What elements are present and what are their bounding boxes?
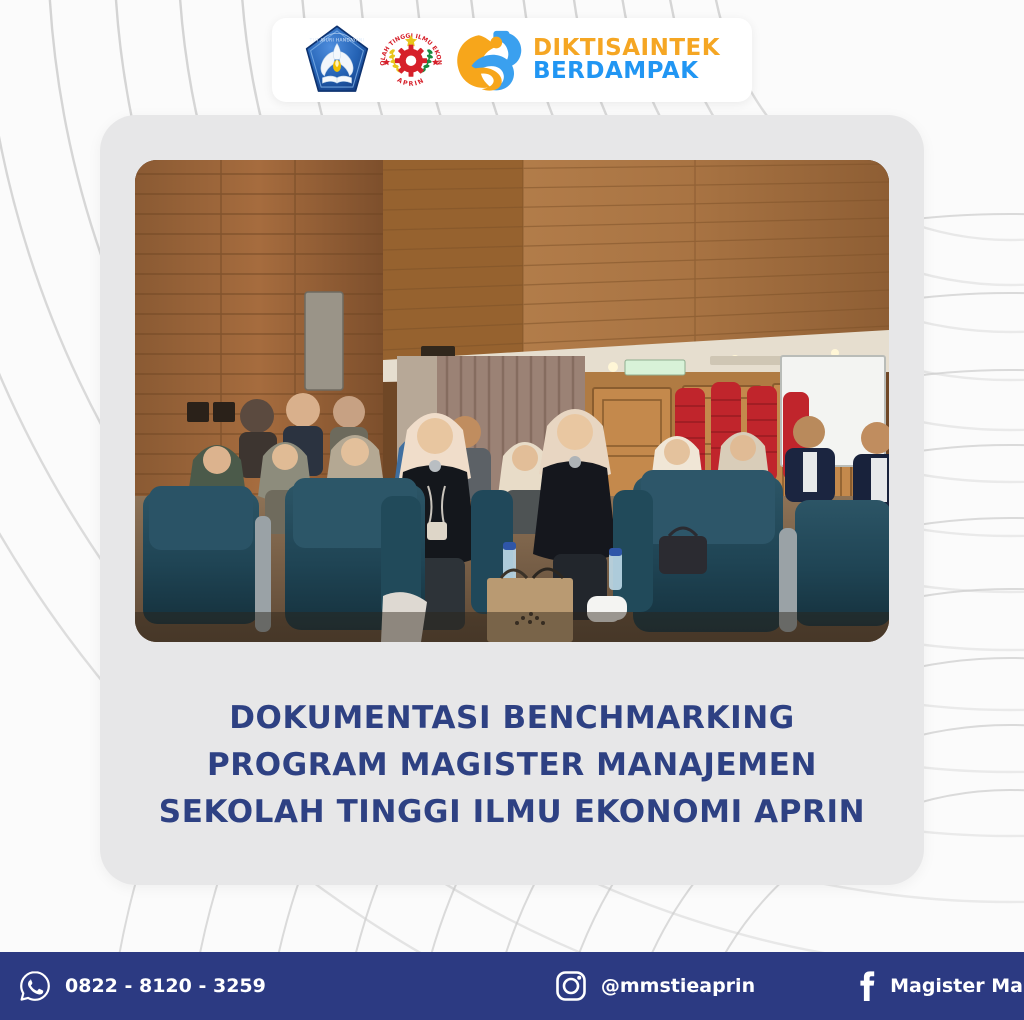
contact-footer: 0822 - 8120 - 3259 @mmstieaprin Magister… bbox=[0, 952, 1024, 1020]
berdampak-text: BERDAMPAK bbox=[533, 60, 720, 83]
title-line-1: DOKUMENTASI BENCHMARKING bbox=[100, 695, 924, 742]
benchmarking-group-photo bbox=[135, 160, 889, 642]
logo-strip: TUT WURI HANDAYANI SEKOLAH TINGGI ILMU E… bbox=[272, 18, 752, 102]
stie-aprin-logo: SEKOLAH TINGGI ILMU EKONOMI APRIN bbox=[376, 25, 446, 95]
poster-title: DOKUMENTASI BENCHMARKING PROGRAM MAGISTE… bbox=[100, 695, 924, 836]
instagram-contact[interactable]: @mmstieaprin bbox=[554, 969, 755, 1003]
title-line-2: PROGRAM MAGISTER MANAJEMEN bbox=[100, 742, 924, 789]
diktisaintek-figure-icon bbox=[452, 25, 526, 95]
diktisaintek-berdampak-logo: DIKTISAINTEK BERDAMPAK bbox=[452, 25, 720, 95]
facebook-icon bbox=[855, 969, 877, 1003]
whatsapp-icon bbox=[18, 969, 52, 1003]
whatsapp-number: 0822 - 8120 - 3259 bbox=[65, 975, 266, 997]
diktisaintek-text: DIKTISAINTEK bbox=[533, 37, 720, 60]
content-card: DOKUMENTASI BENCHMARKING PROGRAM MAGISTE… bbox=[100, 115, 924, 885]
svg-text:TUT WURI HANDAYANI: TUT WURI HANDAYANI bbox=[309, 38, 365, 44]
facebook-page-name: Magister Manajemen STIE APRIN bbox=[890, 975, 1024, 997]
tut-wuri-handayani-logo: TUT WURI HANDAYANI bbox=[304, 25, 370, 95]
instagram-handle: @mmstieaprin bbox=[601, 975, 755, 997]
whatsapp-contact[interactable]: 0822 - 8120 - 3259 bbox=[18, 969, 266, 1003]
facebook-contact[interactable]: Magister Manajemen STIE APRIN bbox=[855, 969, 1024, 1003]
instagram-icon bbox=[554, 969, 588, 1003]
title-line-3: SEKOLAH TINGGI ILMU EKONOMI APRIN bbox=[100, 789, 924, 836]
poster-root: TUT WURI HANDAYANI SEKOLAH TINGGI ILMU E… bbox=[0, 0, 1024, 1020]
